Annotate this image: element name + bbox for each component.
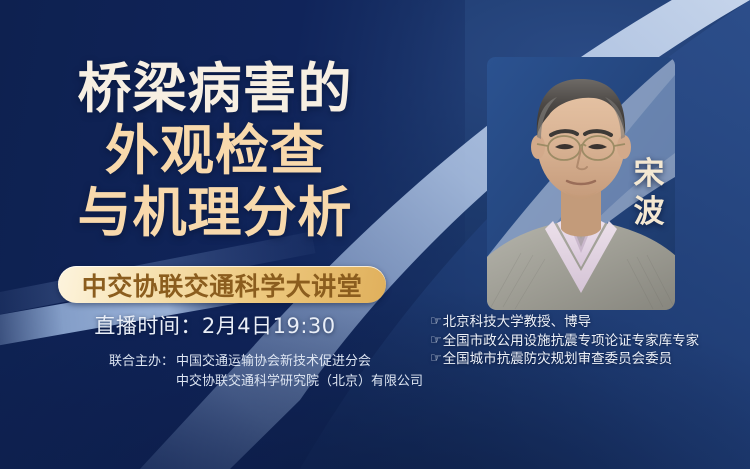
poster-title: 桥梁病害的 外观检查 与机理分析 xyxy=(0,58,430,244)
series-badge-label: 中交协联交通科学大讲堂 xyxy=(82,267,363,303)
credential-text: 全国市政公用设施抗震专项论证专家库专家 xyxy=(443,332,700,351)
credential-text: 北京科技大学教授、博导 xyxy=(443,313,592,332)
organizer-name-2: 中交协联交通科学研究院（北京）有限公司 xyxy=(0,372,440,392)
organizer-label: 联合主办： xyxy=(0,352,176,372)
organizers-block: 联合主办： 中国交通运输协会新技术促进分会 中交协联交通科学研究院（北京）有限公… xyxy=(0,352,440,392)
speaker-name-char-2: 波 xyxy=(629,193,669,231)
series-badge: 中交协联交通科学大讲堂 xyxy=(58,266,386,303)
title-line-1: 桥梁病害的 xyxy=(0,58,430,120)
webinar-poster: 桥梁病害的 外观检查 与机理分析 中交协联交通科学大讲堂 直播时间：2月4日19… xyxy=(0,0,750,469)
credential-item: ☞ 北京科技大学教授、博导 xyxy=(430,313,748,332)
credential-item: ☞ 全国城市抗震防灾规划审查委员会委员 xyxy=(430,350,748,369)
pointing-hand-icon: ☞ xyxy=(430,332,442,351)
pointing-hand-icon: ☞ xyxy=(430,350,442,369)
speaker-name: 宋 波 xyxy=(629,155,669,231)
credential-item: ☞ 全国市政公用设施抗震专项论证专家库专家 xyxy=(430,332,748,351)
organizer-row-1: 联合主办： 中国交通运输协会新技术促进分会 xyxy=(0,352,440,372)
title-line-2: 外观检查 xyxy=(0,120,430,182)
pointing-hand-icon: ☞ xyxy=(430,313,442,332)
credential-text: 全国城市抗震防灾规划审查委员会委员 xyxy=(443,350,673,369)
speaker-credentials: ☞ 北京科技大学教授、博导 ☞ 全国市政公用设施抗震专项论证专家库专家 ☞ 全国… xyxy=(430,313,748,369)
speaker-name-char-1: 宋 xyxy=(629,155,669,193)
title-line-3: 与机理分析 xyxy=(0,182,430,244)
organizer-name-1: 中国交通运输协会新技术促进分会 xyxy=(176,352,371,372)
broadcast-time: 直播时间：2月4日19:30 xyxy=(0,310,430,340)
